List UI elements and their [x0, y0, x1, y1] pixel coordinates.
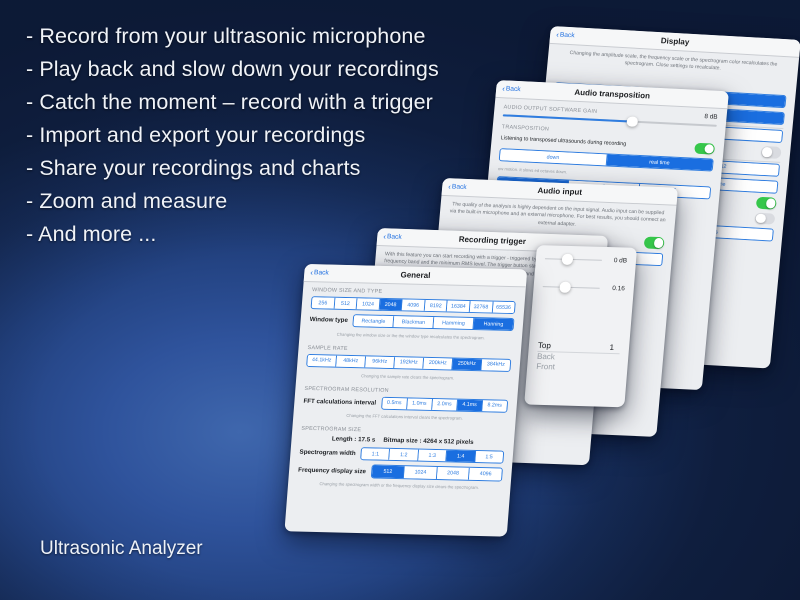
promo-stage: - Record from your ultrasonic microphone… [0, 0, 800, 600]
back-button-display[interactable]: ‹ Back [556, 560, 575, 569]
window-type-segmented[interactable]: Rectangle Blackman Hamming Hanning [352, 314, 514, 331]
mic-slider-2-value: 0.16 [604, 285, 625, 293]
feature-item: - Zoom and measure [26, 191, 496, 213]
mode-option-down[interactable]: down [500, 149, 607, 165]
back-button-display[interactable]: ‹ Back [556, 31, 575, 40]
gain-slider[interactable] [503, 474, 717, 486]
spectrogram-bitmap: Bitmap size : 4264 x 512 pixels [383, 437, 474, 446]
feature-item: - Import and export your recordings [26, 125, 496, 147]
width-option-1-3[interactable]: 1:3 [418, 450, 447, 462]
window-type-label: Window type [309, 316, 348, 324]
freq-size-2048[interactable]: 2048 [437, 467, 470, 479]
picker-option-top[interactable]: Top [538, 341, 610, 353]
window-type-hanning[interactable]: Hanning [473, 318, 513, 330]
sample-rate-250[interactable]: 250kHz [452, 358, 482, 370]
general-title: General [304, 268, 527, 282]
gain-value: 8 dB [697, 113, 718, 121]
transposition-navbar: ‹ Back Audio transposition [495, 491, 729, 520]
spectrogram-length: Length : 17.5 s [332, 436, 376, 444]
row-mic-slider-1[interactable]: 0 dB [535, 245, 637, 268]
window-size-256[interactable]: 256 [312, 297, 335, 309]
freq-size-512[interactable]: 512 [372, 466, 405, 478]
card-microphone[interactable]: 0 dB 0.16 Top 1 Back Front [524, 245, 637, 407]
window-size-8192[interactable]: 8192 [425, 300, 448, 312]
row-mic-slider-2[interactable]: 0.16 [533, 265, 635, 296]
card-display[interactable]: ‹ Back Display Changing the amplitude sc… [520, 458, 800, 574]
row-gain-header: AUDIO OUTPUT SOFTWARE GAIN 8 dB [494, 476, 727, 502]
frequency-segmented[interactable]: logarithmic [552, 475, 785, 501]
back-label: Back [387, 233, 402, 240]
fft-interval-8-2ms[interactable]: 8.2ms [482, 400, 507, 412]
back-label: Back [560, 32, 575, 40]
back-button-audio-input[interactable]: ‹ Back [448, 183, 467, 192]
back-label: Back [314, 269, 329, 276]
feature-item: - Share your recordings and charts [26, 158, 496, 180]
fft-interval-1-0ms[interactable]: 1.0ms [407, 398, 433, 410]
back-button-trigger[interactable]: ‹ Back [383, 233, 402, 242]
window-size-segmented[interactable]: 256 512 1024 2048 4096 8192 16384 32768 … [311, 296, 516, 314]
frequency-display-size-segmented[interactable]: 512 1024 2048 4096 [371, 465, 503, 481]
sample-rate-48[interactable]: 48kHz [336, 356, 366, 368]
freq-size-1024[interactable]: 1024 [404, 467, 437, 479]
back-label: Back [506, 85, 521, 93]
back-label: Back [560, 561, 575, 569]
sample-rate-192[interactable]: 192kHz [394, 357, 424, 369]
sample-rate-segmented[interactable]: 44.1kHz 48kHz 96kHz 192kHz 200kHz 250kHz… [306, 354, 511, 372]
window-type-blackman[interactable]: Blackman [393, 316, 434, 328]
feature-list: - Record from your ultrasonic microphone… [26, 26, 496, 257]
width-option-1-5[interactable]: 1:5 [475, 451, 503, 463]
mic-slider-1-value: 0 dB [607, 257, 628, 265]
cursor-toggle[interactable] [754, 212, 775, 225]
fft-interval-0-5ms[interactable]: 0.5ms [382, 397, 408, 409]
width-option-1-2[interactable]: 1:2 [390, 449, 419, 461]
transposition-toggle[interactable] [694, 142, 715, 154]
width-option-1-1[interactable]: 1:1 [361, 448, 390, 460]
amplitude-segmented[interactable]: decibels [554, 492, 787, 518]
row-gain-slider[interactable] [494, 470, 726, 487]
window-type-hamming[interactable]: Hamming [433, 317, 474, 329]
width-option-1-4[interactable]: 1:4 [446, 451, 475, 463]
frequency-display-size-label: Frequency display size [298, 466, 366, 475]
fft-interval-segmented[interactable]: 0.5ms 1.0ms 2.0ms 4.1ms 8.2ms [381, 396, 509, 412]
window-size-32768[interactable]: 32768 [470, 301, 493, 313]
app-title: Ultrasonic Analyzer [40, 538, 203, 560]
window-size-4096[interactable]: 4096 [402, 299, 425, 311]
feature-item: - Play back and slow down your recording… [26, 59, 496, 81]
fft-interval-4-1ms[interactable]: 4.1ms [457, 399, 483, 411]
card-general[interactable]: ‹ Back General WINDOW SIZE AND TYPE 256 … [284, 264, 527, 537]
feature-item: - Record from your ultrasonic microphone [26, 26, 496, 48]
window-size-1024[interactable]: 1024 [357, 298, 380, 310]
feature-item: - Catch the moment – record with a trigg… [26, 92, 496, 114]
window-size-16384[interactable]: 16384 [447, 300, 470, 312]
gain-value: 8 dB [697, 479, 718, 487]
amplitude-option-decibels[interactable]: decibels [555, 493, 786, 517]
back-button-general[interactable]: ‹ Back [310, 269, 329, 277]
gain-section-header: AUDIO OUTPUT SOFTWARE GAIN [503, 481, 692, 496]
back-label: Back [452, 183, 467, 191]
divider [552, 471, 784, 485]
picker-value: 1 [609, 343, 620, 353]
sample-rate-44[interactable]: 44.1kHz [307, 355, 337, 367]
spectrogram-width-segmented[interactable]: 1:1 1:2 1:3 1:4 1:5 [360, 447, 504, 464]
window-type-rectangle[interactable]: Rectangle [353, 315, 394, 327]
back-button-transposition[interactable]: ‹ Back [502, 85, 521, 94]
row-frequency-scale[interactable]: logarithmic [543, 471, 794, 502]
sample-rate-200[interactable]: 200kHz [423, 358, 453, 370]
fft-interval-2-0ms[interactable]: 2.0ms [432, 399, 458, 411]
fft-interval-label: FFT calculations interval [303, 397, 376, 406]
window-size-512[interactable]: 512 [334, 298, 357, 310]
display-amplitude-header [546, 506, 797, 533]
sample-rate-96[interactable]: 96kHz [365, 356, 395, 368]
mic-slider-1[interactable] [545, 258, 602, 261]
mic-slider-2[interactable] [543, 286, 600, 289]
spectrogram-width-label: Spectrogram width [299, 449, 356, 457]
chevron-left-icon: ‹ [556, 561, 559, 569]
row-amplitude[interactable]: decibels [544, 488, 795, 519]
freq-size-4096[interactable]: 4096 [469, 468, 501, 480]
window-size-2048[interactable]: 2048 [379, 299, 402, 311]
mode-option-real-time[interactable]: real time [606, 154, 712, 170]
transposition-title: Audio transposition [496, 496, 729, 516]
display-navbar: ‹ Back Display [549, 542, 800, 574]
frequency-option-logarithmic[interactable]: logarithmic [553, 476, 784, 500]
color-toggle[interactable] [761, 146, 782, 159]
window-size-65536[interactable]: 65536 [492, 302, 514, 314]
picker-option-front[interactable]: Front [536, 362, 619, 374]
display-description: Changing the amplitude scale, the freque… [547, 518, 799, 556]
headphone-toggle[interactable] [644, 237, 665, 249]
mic-position-picker[interactable]: Top 1 Back Front [527, 339, 630, 377]
grid-toggle[interactable] [756, 197, 777, 210]
sample-rate-384[interactable]: 384kHz [481, 359, 510, 371]
display-title: Display [550, 547, 800, 570]
